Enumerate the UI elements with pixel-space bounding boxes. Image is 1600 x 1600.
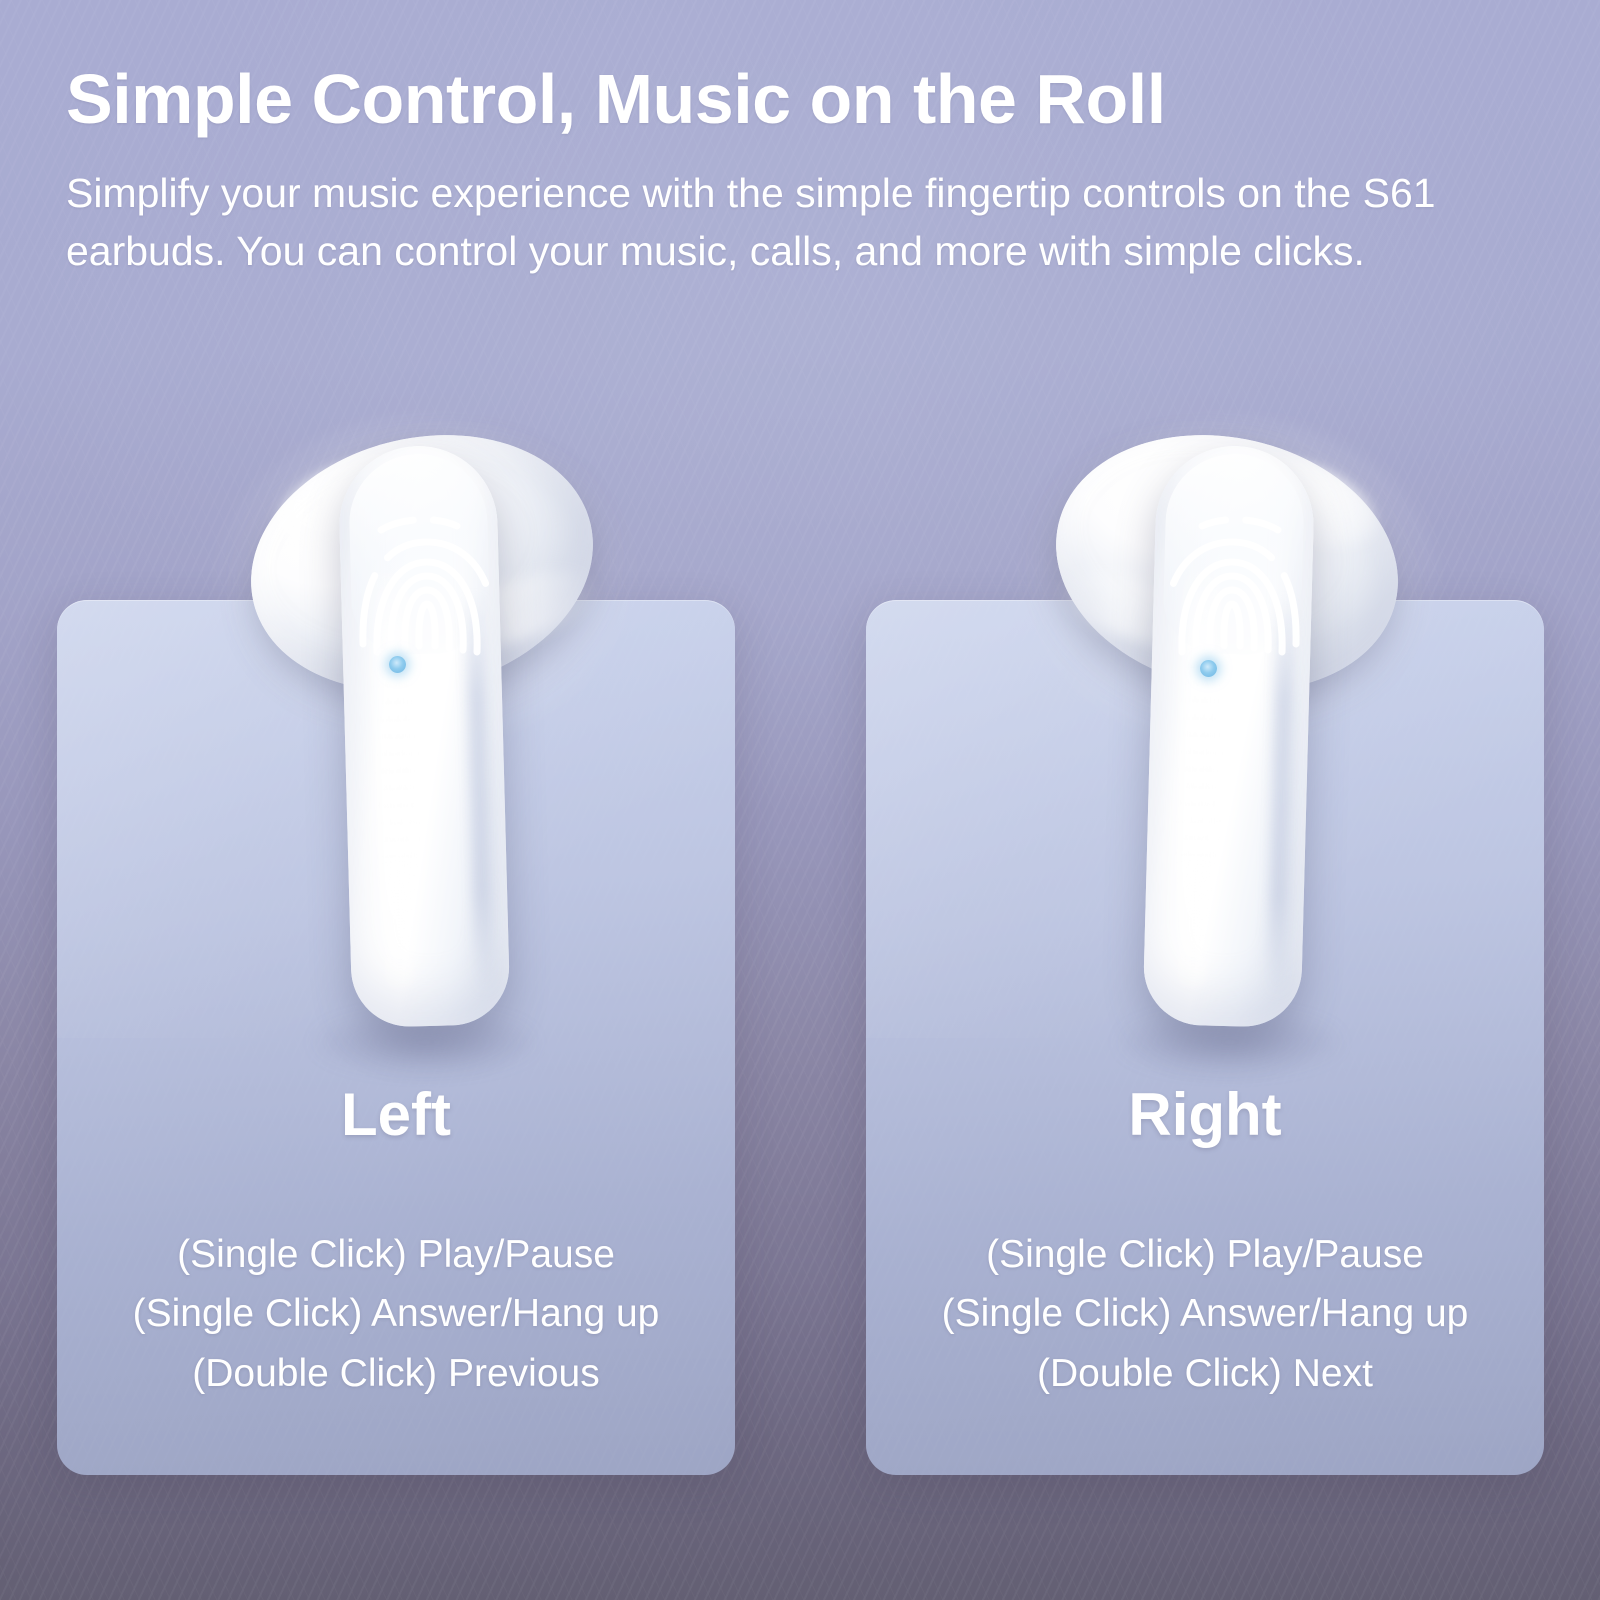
card-title-right: Right [866,1080,1544,1149]
control-card-right-content: Right (Single Click) Play/Pause (Single … [866,1080,1544,1475]
card-title-left: Left [57,1080,735,1149]
page-title: Simple Control, Music on the Roll [66,62,1486,138]
page-subtitle: Simplify your music experience with the … [66,164,1456,280]
control-line: (Single Click) Play/Pause [71,1225,721,1284]
earbud-highlight [1223,439,1391,568]
control-line: (Double Click) Next [880,1344,1530,1403]
control-card-right: Right (Single Click) Play/Pause (Single … [866,600,1544,1475]
control-line: (Single Click) Answer/Hang up [880,1284,1530,1343]
control-line: (Single Click) Answer/Hang up [71,1284,721,1343]
earbud-highlight [262,439,430,568]
control-card-left-content: Left (Single Click) Play/Pause (Single C… [57,1080,735,1475]
control-list-right: (Single Click) Play/Pause (Single Click)… [866,1225,1544,1403]
control-list-left: (Single Click) Play/Pause (Single Click)… [57,1225,735,1403]
header-block: Simple Control, Music on the Roll Simpli… [66,62,1486,280]
control-line: (Double Click) Previous [71,1344,721,1403]
product-feature-slide: Simple Control, Music on the Roll Simpli… [0,0,1600,1600]
control-line: (Single Click) Play/Pause [880,1225,1530,1284]
control-card-left: Left (Single Click) Play/Pause (Single C… [57,600,735,1475]
